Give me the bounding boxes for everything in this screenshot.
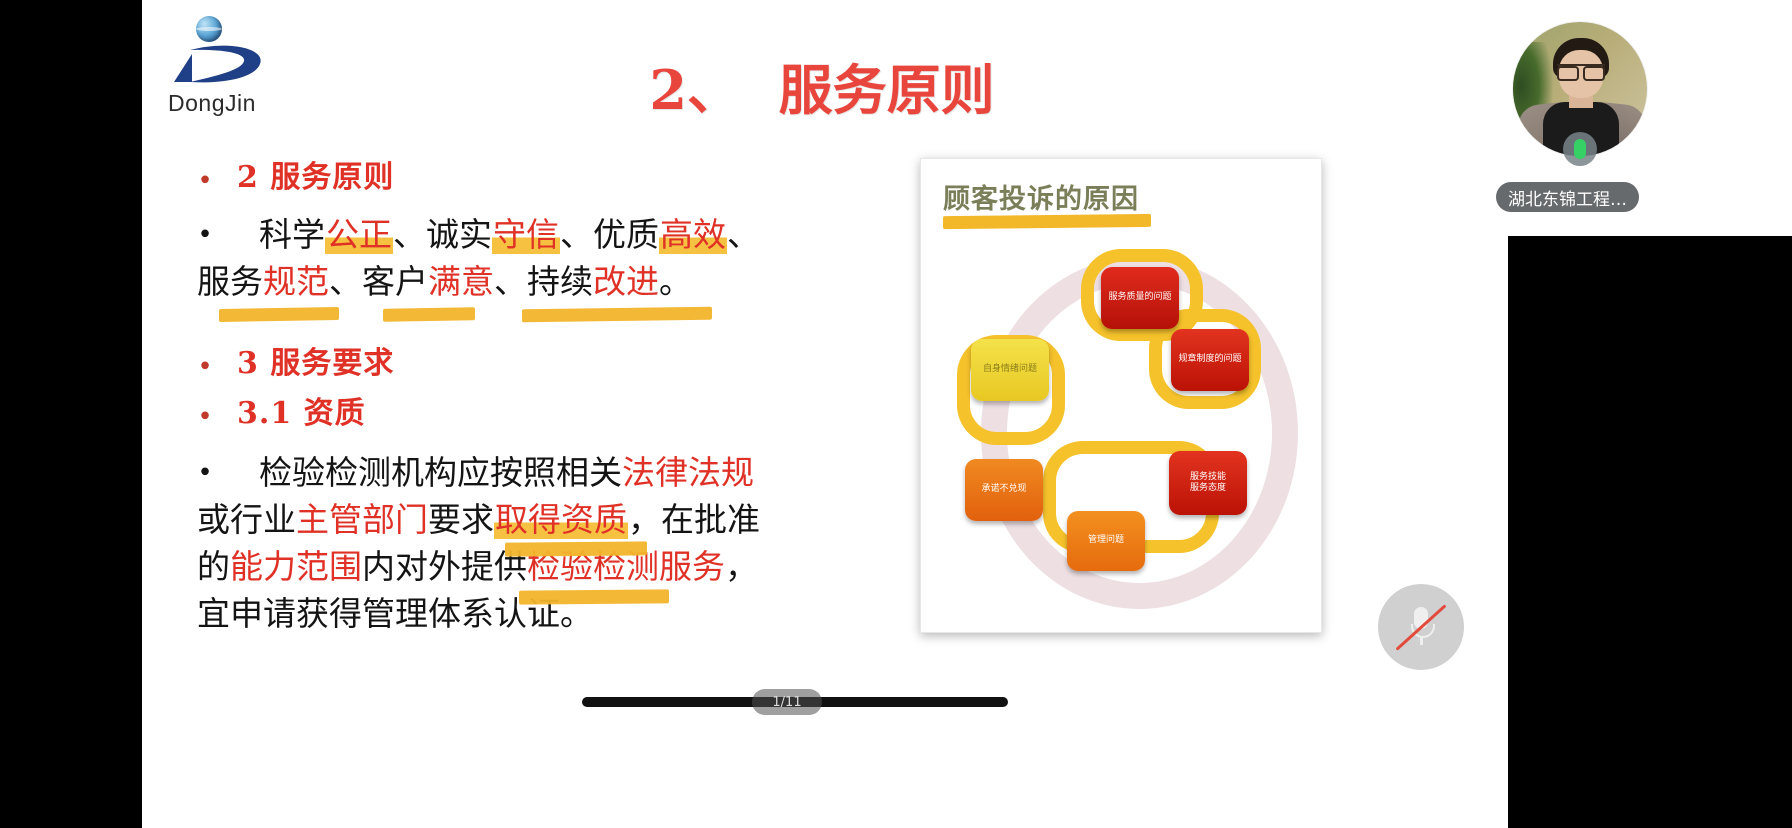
highlight-stroke	[505, 541, 647, 556]
bullet-icon: •	[197, 354, 213, 380]
microphone-status-icon[interactable]	[1563, 132, 1597, 166]
participant-name-label: 湖北东锦工程…	[1496, 182, 1639, 212]
diagram-node-rules-system: 规章制度的问题	[1171, 329, 1249, 391]
bullet-icon: •	[197, 404, 213, 430]
diagram-node-service-skill: 服务技能 服务态度	[1169, 451, 1247, 515]
diagram-node-management: 管理问题	[1067, 511, 1145, 571]
bullet-icon: •	[197, 222, 213, 248]
paragraph-text: 科学公正、诚实守信、优质高效、 服务规范、客户满意、持续改进。	[197, 212, 897, 306]
highlight-stroke	[522, 307, 712, 323]
mute-toggle-button[interactable]	[1378, 584, 1464, 670]
complaint-cause-diagram: 顾客投诉的原因 服务质量的问题 规章制度的问题 自身情绪问题 承诺不兑现 服务技…	[920, 158, 1322, 633]
paragraph-qualification: • 检验检测机构应按照相关法律法规 或行业主管部门要求取得资质，在批准 的能力范…	[197, 450, 897, 650]
heading-3-1-qualification: • 3.1 资质	[197, 396, 897, 444]
glasses-icon	[1557, 64, 1605, 77]
highlight-stroke	[519, 589, 669, 604]
diagram-node-service-quality: 服务质量的问题	[1101, 267, 1179, 329]
letter-d-icon	[170, 36, 270, 84]
page-title: 2、 服务原则	[472, 46, 1172, 125]
slide-body: • 2 服务原则 • 科学公正、诚实守信、优质高效、 服务规范、客户满意、持续改…	[197, 160, 897, 650]
bullet-icon: •	[197, 168, 213, 194]
diagram-title: 顾客投诉的原因	[943, 177, 1139, 216]
diagram-node-self-emotion: 自身情绪问题	[971, 339, 1049, 401]
bullet-icon: •	[197, 460, 213, 486]
screen-root: DongJin 2、 服务原则 • 2 服务原则 • 科学公正、诚实守信、优质高…	[0, 0, 1792, 828]
highlight-stroke	[219, 307, 339, 322]
dongjin-logo: DongJin	[162, 14, 292, 114]
heading-2-service-principles: • 2 服务原则	[197, 160, 897, 206]
logo-wordmark: DongJin	[168, 90, 256, 117]
paragraph-service-principles: • 科学公正、诚实守信、优质高效、 服务规范、客户满意、持续改进。	[197, 212, 897, 318]
diagram-title-underline	[943, 214, 1151, 229]
diagram-node-promise-broken: 承诺不兑现	[965, 459, 1043, 521]
heading-3-service-requirements: • 3 服务要求	[197, 346, 897, 394]
highlight-stroke	[383, 307, 475, 322]
mic-level-bar	[1574, 139, 1586, 159]
page-indicator[interactable]: 1/11	[752, 689, 822, 715]
logo-mark	[162, 14, 282, 84]
